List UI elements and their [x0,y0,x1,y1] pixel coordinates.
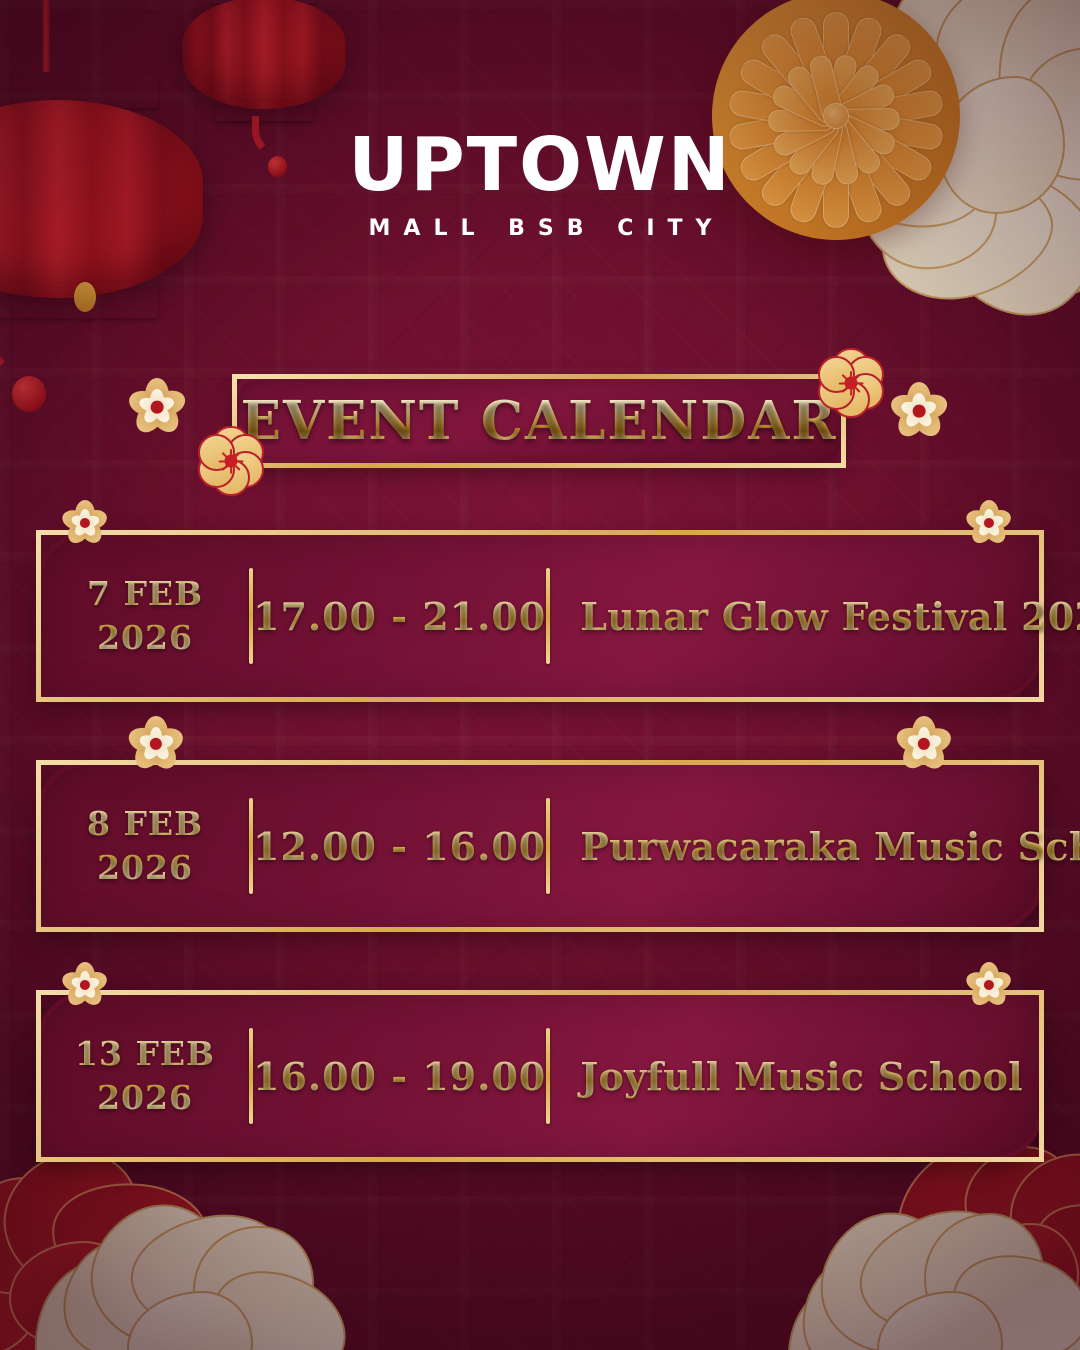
gold-sakura-blossom-icon-card3-left [62,962,108,1008]
event-date-day: 8 FEB [41,802,249,846]
gold-plum-blossom-icon-banner-right [820,352,882,414]
cream-peony-bottom-right [790,1218,1080,1350]
event-card[interactable]: 13 FEB 2026 16.00 - 19.00 Joyfull Music … [36,990,1044,1162]
gold-plum-blossom-icon-banner-left [200,430,262,492]
page-title: EVENT CALENDAR [241,390,838,452]
event-time: 17.00 - 21.00 [253,594,546,639]
plum-center [224,454,237,467]
lantern-cord [43,0,50,72]
event-date: 8 FEB 2026 [41,802,249,890]
plum-center [844,376,857,389]
lantern-tassel [0,312,76,422]
event-title: Lunar Glow Festival 2026 [550,594,1080,639]
event-time: 12.00 - 16.00 [253,824,546,869]
gold-sakura-blossom-icon-right [890,382,948,440]
chrysanthemum-core [823,103,849,129]
tassel-cord [0,312,32,380]
event-calendar-banner: EVENT CALENDAR [232,374,846,468]
tassel-bead [12,376,46,412]
gold-sakura-blossom-icon-card3-right [966,962,1012,1008]
gold-sakura-blossom-icon-card1-left [62,500,108,546]
lantern-knob [74,282,96,312]
brand-logo: UPTOWN MALL BSB CITY [0,128,1080,241]
event-title: Joyfull Music School [550,1054,1039,1099]
event-time: 16.00 - 19.00 [253,1054,546,1099]
sakura-center [913,405,926,418]
event-calendar-poster: UPTOWN MALL BSB CITY EVENT CALENDAR 7 FE… [0,0,1080,1350]
brand-tagline: MALL BSB CITY [0,216,1080,241]
event-date-day: 13 FEB [41,1032,249,1076]
event-date: 13 FEB 2026 [41,1032,249,1120]
event-date-year: 2026 [41,846,249,890]
event-date-day: 7 FEB [41,572,249,616]
event-card[interactable]: 8 FEB 2026 12.00 - 16.00 Purwacaraka Mus… [36,760,1044,932]
gold-sakura-blossom-icon-card2-right [896,716,952,772]
event-title: Purwacaraka Music School [550,824,1080,869]
gold-sakura-blossom-icon-card2-left [128,716,184,772]
sakura-center [151,401,164,414]
event-date: 7 FEB 2026 [41,572,249,660]
gold-sakura-blossom-icon-card1-right [966,500,1012,546]
brand-name: UPTOWN [0,128,1080,202]
event-date-year: 2026 [41,1076,249,1120]
cream-peony-bottom-left [40,1218,340,1350]
gold-sakura-blossom-icon-left [128,378,186,436]
event-date-year: 2026 [41,616,249,660]
event-card[interactable]: 7 FEB 2026 17.00 - 21.00 Lunar Glow Fest… [36,530,1044,702]
